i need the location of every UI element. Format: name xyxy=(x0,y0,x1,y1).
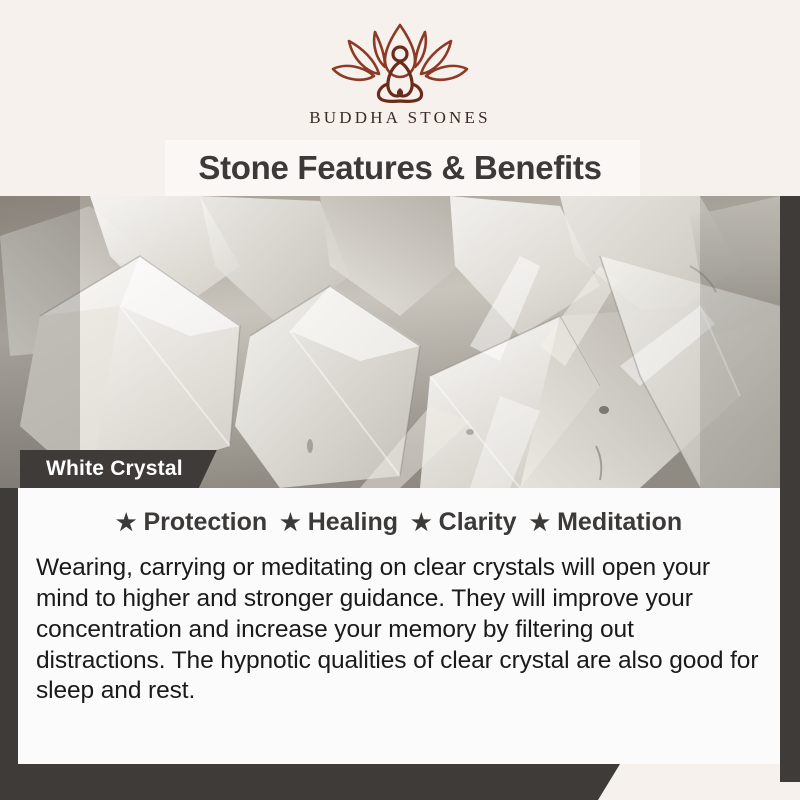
benefits-list: ★ Protection ★ Healing ★ Clarity ★ Medit… xyxy=(28,508,770,537)
benefit-label: Healing xyxy=(308,508,398,537)
benefit-label: Meditation xyxy=(557,508,682,537)
benefit-item-healing: ★ Healing xyxy=(280,508,398,537)
star-icon: ★ xyxy=(411,511,432,534)
stone-name-tag: White Crystal xyxy=(20,450,217,488)
star-icon: ★ xyxy=(116,511,137,534)
stone-info-content: ★ Protection ★ Healing ★ Clarity ★ Medit… xyxy=(18,488,780,764)
benefit-item-protection: ★ Protection xyxy=(116,508,267,537)
lotus-meditation-icon xyxy=(325,22,475,104)
poster-canvas: BUDDHA STONES Stone Features & Benefits xyxy=(0,0,800,800)
star-icon: ★ xyxy=(280,511,301,534)
benefit-label: Protection xyxy=(144,508,268,537)
brand-logo-group: BUDDHA STONES xyxy=(0,22,800,128)
benefit-label: Clarity xyxy=(439,508,517,537)
brand-name: BUDDHA STONES xyxy=(309,108,491,128)
benefit-item-meditation: ★ Meditation xyxy=(529,508,682,537)
frame-bottom-bar xyxy=(0,764,620,800)
white-crystal-cluster-photo xyxy=(0,196,780,488)
crystal-photo-art xyxy=(0,196,780,488)
benefit-item-clarity: ★ Clarity xyxy=(411,508,516,537)
stone-name-label: White Crystal xyxy=(46,457,183,481)
page-title: Stone Features & Benefits xyxy=(0,140,800,196)
stone-description: Wearing, carrying or meditating on clear… xyxy=(28,553,770,707)
star-icon: ★ xyxy=(529,511,550,534)
